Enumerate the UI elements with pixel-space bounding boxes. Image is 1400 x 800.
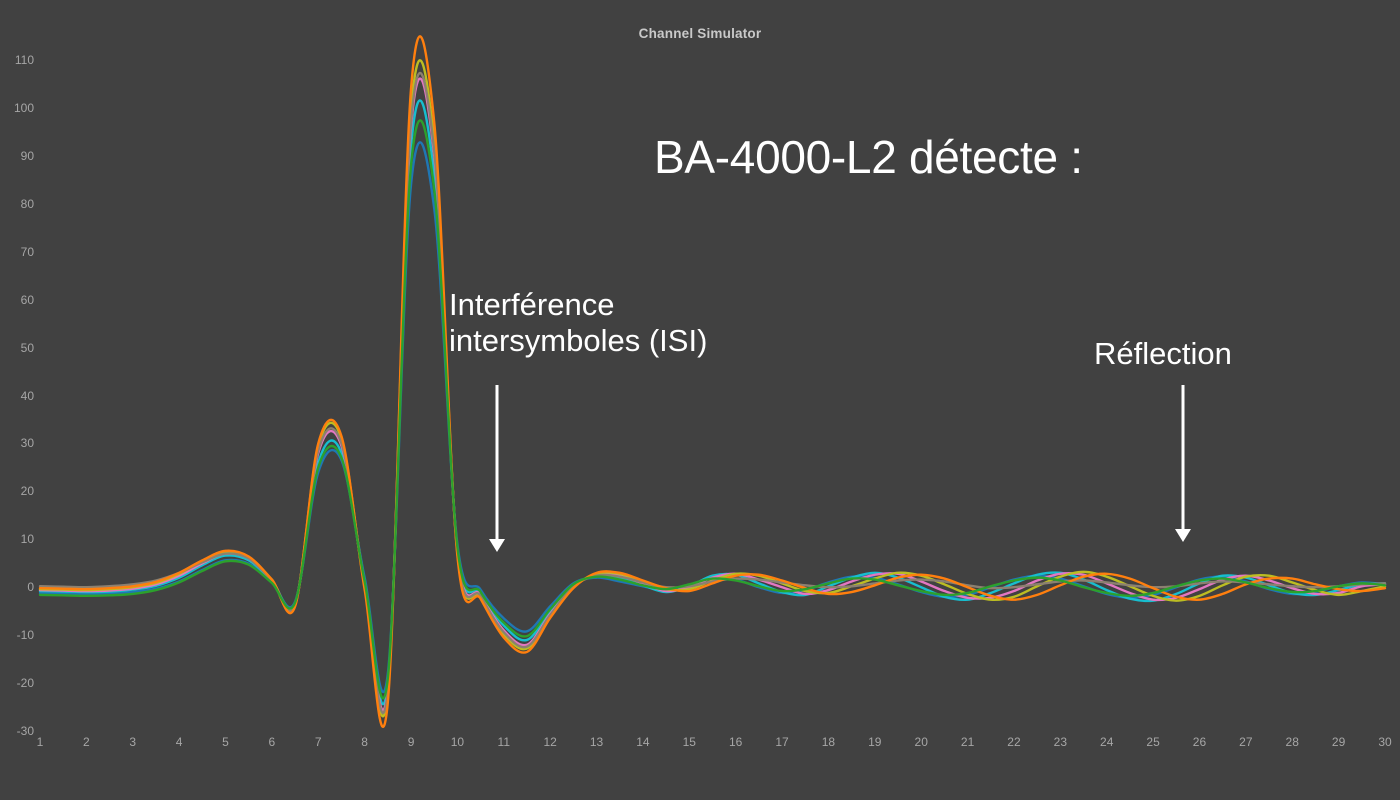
- y-tick-label: 40: [0, 389, 34, 403]
- y-tick-label: 20: [0, 484, 34, 498]
- y-tick-label: 100: [0, 101, 34, 115]
- x-tick-label: 17: [775, 735, 788, 749]
- isi-annotation-arrow: [489, 385, 505, 552]
- x-tick-label: 7: [315, 735, 322, 749]
- chart-canvas: Channel Simulator -30-20-100102030405060…: [0, 0, 1400, 800]
- x-tick-label: 22: [1007, 735, 1020, 749]
- chart-title: Channel Simulator: [0, 26, 1400, 41]
- isi-annotation-label: Interférence intersymboles (ISI): [449, 287, 707, 359]
- x-tick-label: 28: [1286, 735, 1299, 749]
- x-tick-label: 16: [729, 735, 742, 749]
- x-tick-label: 29: [1332, 735, 1345, 749]
- x-tick-label: 21: [961, 735, 974, 749]
- x-tick-label: 9: [408, 735, 415, 749]
- x-tick-label: 3: [129, 735, 136, 749]
- annotation-arrows: [489, 385, 1191, 552]
- x-tick-label: 12: [543, 735, 556, 749]
- x-tick-label: 10: [451, 735, 464, 749]
- x-tick-label: 14: [636, 735, 649, 749]
- y-tick-label: -30: [0, 724, 34, 738]
- y-tick-label: 10: [0, 532, 34, 546]
- x-tick-label: 23: [1054, 735, 1067, 749]
- reflection-annotation-arrow: [1175, 385, 1191, 542]
- x-tick-label: 20: [915, 735, 928, 749]
- x-tick-label: 27: [1239, 735, 1252, 749]
- x-tick-label: 4: [176, 735, 183, 749]
- x-tick-label: 19: [868, 735, 881, 749]
- y-tick-label: 80: [0, 197, 34, 211]
- x-tick-label: 11: [498, 735, 510, 749]
- x-tick-label: 6: [269, 735, 276, 749]
- reflection-annotation-label: Réflection: [1094, 336, 1232, 372]
- y-tick-label: 0: [0, 580, 34, 594]
- x-tick-label: 15: [683, 735, 696, 749]
- x-tick-label: 25: [1146, 735, 1159, 749]
- y-tick-label: -10: [0, 628, 34, 642]
- y-tick-label: 30: [0, 436, 34, 450]
- y-tick-label: -20: [0, 676, 34, 690]
- x-tick-label: 26: [1193, 735, 1206, 749]
- y-tick-label: 110: [0, 53, 34, 67]
- x-tick-label: 13: [590, 735, 603, 749]
- headline-annotation: BA-4000-L2 détecte :: [654, 131, 1083, 184]
- series-line: [40, 142, 1385, 692]
- y-tick-label: 90: [0, 149, 34, 163]
- series-plot: [0, 0, 1400, 800]
- x-tick-label: 5: [222, 735, 229, 749]
- series-line: [40, 120, 1385, 698]
- y-tick-label: 70: [0, 245, 34, 259]
- y-tick-label: 60: [0, 293, 34, 307]
- x-tick-label: 2: [83, 735, 90, 749]
- x-tick-label: 1: [37, 735, 44, 749]
- y-tick-label: 50: [0, 341, 34, 355]
- x-tick-label: 18: [822, 735, 835, 749]
- x-tick-label: 8: [361, 735, 368, 749]
- series-line: [40, 100, 1385, 704]
- x-tick-label: 24: [1100, 735, 1113, 749]
- x-tick-label: 30: [1378, 735, 1391, 749]
